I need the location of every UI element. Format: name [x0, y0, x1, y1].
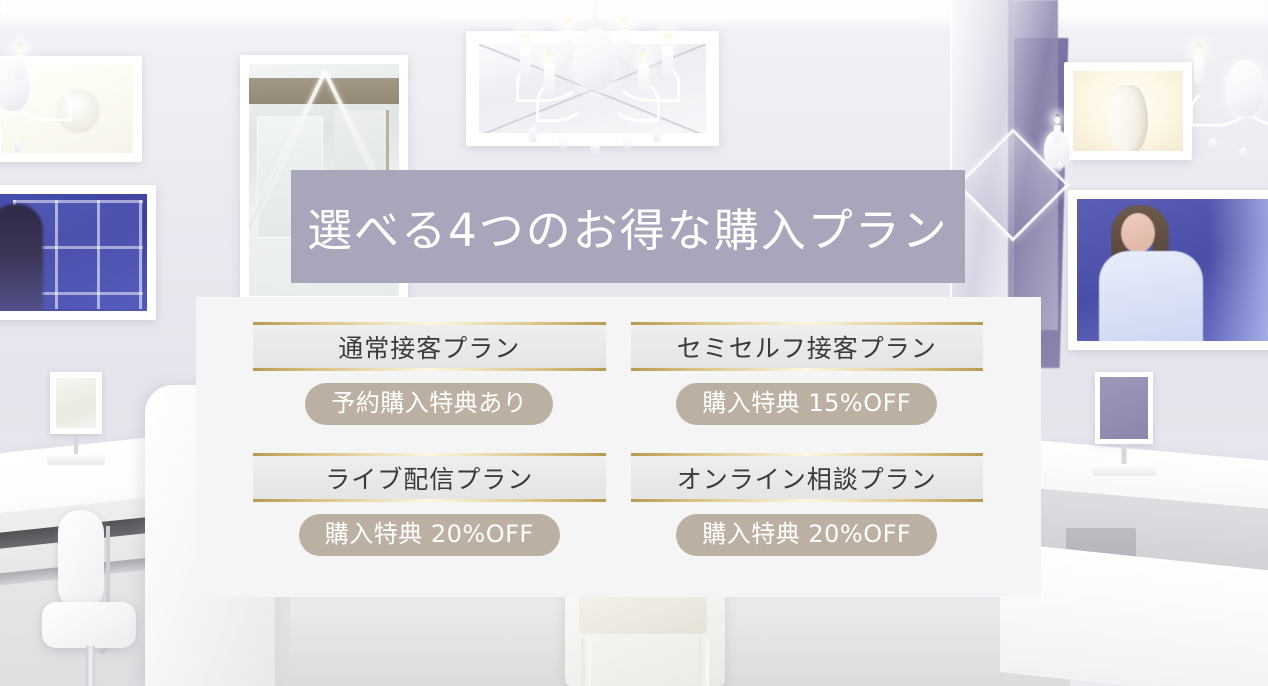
plan-header: オンライン相談プラン	[631, 453, 984, 502]
chandelier-crystal	[14, 138, 23, 152]
plan-benefit-row: 購入特典 20%OFF	[631, 514, 984, 556]
chair-stem	[86, 646, 95, 686]
chandelier-flame	[545, 48, 554, 64]
chandelier-center	[500, 0, 690, 169]
plan-header: セミセルフ接客プラン	[631, 322, 984, 371]
chandelier-left	[0, 29, 63, 157]
chair-back	[58, 510, 104, 610]
plan-name: ライブ配信プラン	[325, 460, 533, 496]
chandelier-crystal	[1239, 147, 1248, 161]
chandelier-candle	[1194, 57, 1204, 84]
chandelier-candle	[662, 46, 673, 76]
photo-content	[0, 194, 147, 311]
plans-grid: 通常接客プラン 予約購入特典あり セミセルフ接客プラン 購入特典 15%OFF …	[253, 322, 983, 556]
person-silhouette	[0, 204, 43, 311]
plan-card-normal[interactable]: 通常接客プラン 予約購入特典あり	[253, 322, 606, 425]
chandelier-arm	[1244, 85, 1268, 126]
framed-photo-bottom-left	[0, 185, 156, 320]
plans-panel: 通常接客プラン 予約購入特典あり セミセルフ接客プラン 購入特典 15%OFF …	[196, 297, 1041, 597]
chandelier-crystal	[652, 126, 662, 142]
chandelier-right	[1187, 30, 1268, 165]
chandelier-arm	[14, 82, 72, 121]
title-banner: 選べる4つのお得な購入プラン	[291, 170, 965, 283]
chandelier-crystal	[528, 126, 538, 142]
chandelier-candle	[618, 30, 629, 60]
person-body	[1099, 251, 1203, 341]
chandelier-flame	[663, 30, 672, 46]
chandelier-candle	[15, 55, 24, 81]
chandelier-crystal	[558, 136, 568, 152]
chandelier-flame	[619, 14, 628, 30]
white-vase	[1108, 85, 1148, 151]
chandelier-flame	[16, 41, 24, 55]
photo-glow	[1209, 199, 1268, 341]
chandelier-candle	[562, 30, 573, 60]
mirror-glass	[56, 378, 96, 428]
chandelier-arm	[1190, 85, 1251, 126]
chandelier-flame	[1195, 42, 1203, 56]
mirror-glass	[1100, 377, 1148, 439]
plan-benefit-row: 購入特典 20%OFF	[253, 514, 606, 556]
mirror-base	[1092, 464, 1156, 476]
chandelier-crystal	[1208, 138, 1217, 152]
plan-name: 通常接客プラン	[338, 329, 520, 365]
chandelier-flame	[521, 30, 530, 46]
stool-leg	[699, 638, 709, 686]
plan-name: オンライン相談プラン	[677, 460, 937, 496]
chair-seat	[42, 602, 136, 648]
plan-card-semiself[interactable]: セミセルフ接客プラン 購入特典 15%OFF	[631, 322, 984, 425]
chandelier-flame	[563, 14, 572, 30]
plan-benefit-badge: 購入特典 15%OFF	[676, 383, 937, 425]
plan-header: ライブ配信プラン	[253, 453, 606, 502]
chandelier-candle	[544, 64, 555, 94]
sconce-flame	[1055, 114, 1061, 124]
person-head	[1121, 213, 1155, 253]
chandelier-crystal	[590, 142, 600, 158]
page-title: 選べる4つのお得な購入プラン	[307, 194, 949, 259]
plan-name: セミセルフ接客プラン	[677, 329, 937, 365]
plan-benefit-row: 購入特典 15%OFF	[631, 383, 984, 425]
plan-benefit-row: 予約購入特典あり	[253, 383, 606, 425]
framed-niche-with-vase	[1064, 62, 1192, 160]
plan-card-livestream[interactable]: ライブ配信プラン 購入特典 20%OFF	[253, 453, 606, 556]
desk-mirror-right	[1095, 372, 1153, 444]
desk-mirror-left	[50, 372, 102, 434]
chandelier-crystal	[622, 136, 632, 152]
mirror-base	[47, 454, 105, 465]
chandelier-candle	[638, 64, 649, 94]
promo-banner-image: 選べる4つのお得な購入プラン 通常接客プラン 予約購入特典あり セミセルフ接客プ…	[0, 0, 1268, 686]
wall-sconce	[1035, 109, 1078, 165]
plan-header: 通常接客プラン	[253, 322, 606, 371]
mirror-stand	[74, 434, 78, 456]
chandelier-flame	[639, 48, 648, 64]
window-blind	[249, 78, 399, 104]
plan-card-online[interactable]: オンライン相談プラン 購入特典 20%OFF	[631, 453, 984, 556]
salon-chair	[42, 510, 152, 686]
sconce-candle	[1054, 125, 1061, 144]
photo-content	[1077, 199, 1268, 341]
chandelier-candle	[520, 46, 531, 76]
stool-leg	[581, 638, 591, 686]
framed-photo-right	[1068, 190, 1268, 350]
plan-benefit-badge: 購入特典 20%OFF	[299, 514, 560, 556]
plan-benefit-badge: 予約購入特典あり	[305, 383, 553, 425]
niche-interior	[1073, 71, 1183, 151]
plan-benefit-badge: 購入特典 20%OFF	[676, 514, 937, 556]
